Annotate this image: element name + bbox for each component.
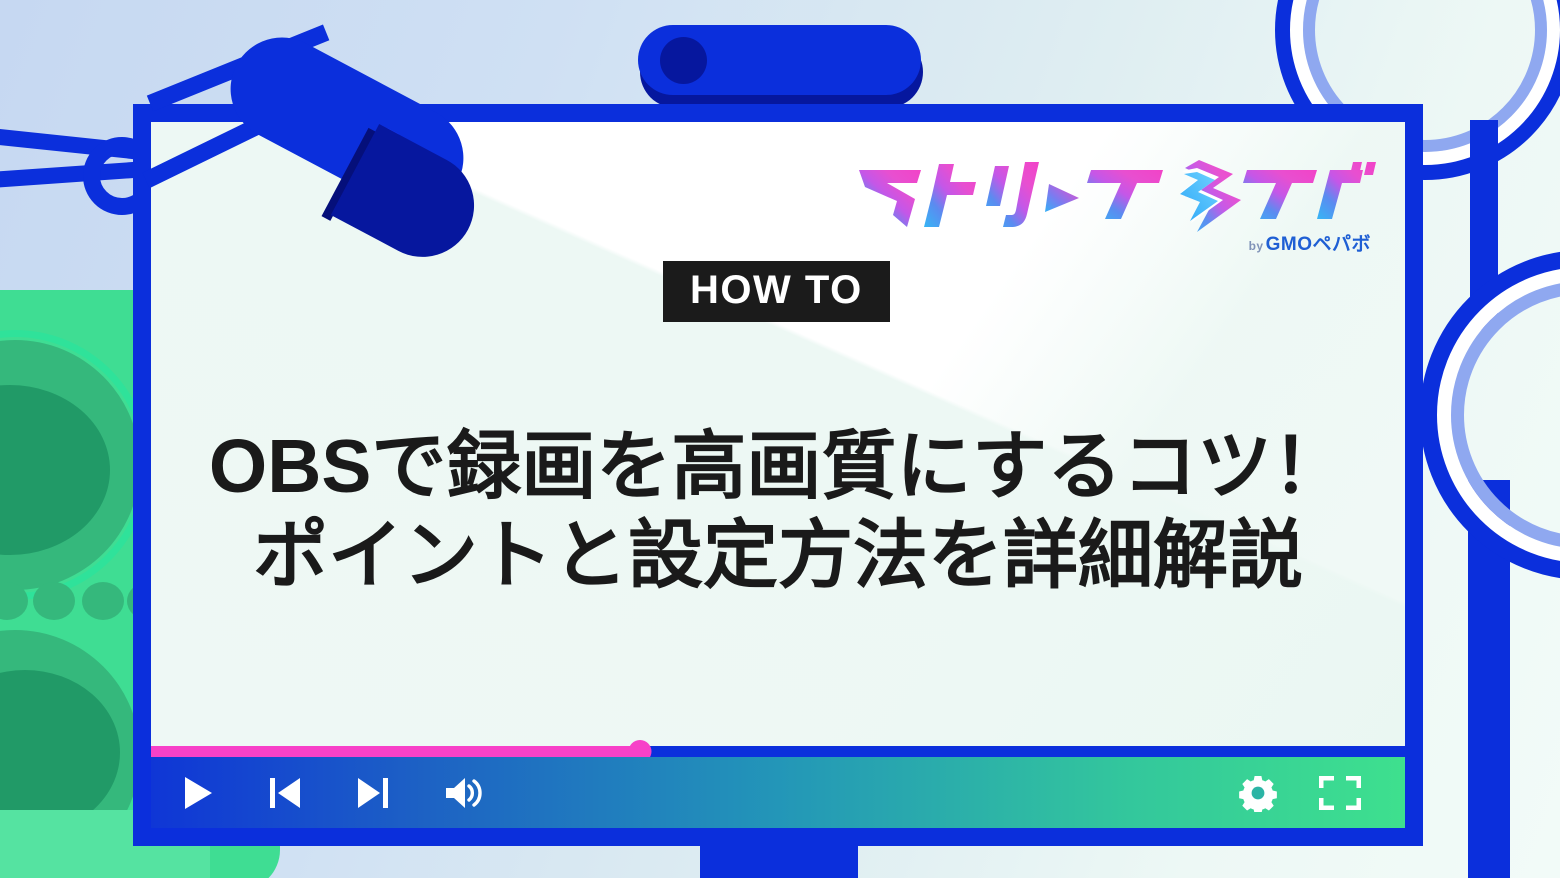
- dj-knob-icon: [82, 582, 124, 620]
- player-controls: [151, 757, 1405, 828]
- sutorima-magazine-logo-icon: [847, 158, 1377, 233]
- player-controls-left: [151, 775, 483, 811]
- logo-byline: byGMOペパボ: [847, 235, 1377, 254]
- page-title-line-2: ポイントと設定方法を詳細解説: [151, 511, 1405, 600]
- next-track-icon[interactable]: [355, 775, 391, 811]
- fullscreen-icon[interactable]: [1319, 776, 1361, 810]
- progress-bar-fill: [151, 746, 640, 757]
- dj-knob-icon: [33, 582, 75, 620]
- logo-byline-name: GMOペパボ: [1266, 234, 1371, 255]
- play-icon[interactable]: [181, 775, 215, 811]
- settings-gear-icon[interactable]: [1239, 774, 1277, 812]
- page-title: OBSで録画を高画質にするコツ！ ポイントと設定方法を詳細解説: [151, 422, 1405, 599]
- previous-track-icon[interactable]: [267, 775, 303, 811]
- progress-bar-track[interactable]: [151, 746, 1405, 757]
- site-logo[interactable]: byGMOペパボ: [847, 158, 1377, 254]
- video-player-bar: [151, 746, 1405, 828]
- webcam-lens-icon: [660, 37, 707, 84]
- logo-byline-prefix: by: [1249, 239, 1264, 253]
- how-to-badge: HOW TO: [663, 261, 890, 322]
- thumbnail-canvas: byGMOペパボ HOW TO OBSで録画を高画質にするコツ！ ポイントと設定…: [0, 0, 1560, 878]
- volume-icon[interactable]: [443, 776, 483, 810]
- card-inner: byGMOペパボ HOW TO OBSで録画を高画質にするコツ！ ポイントと設定…: [151, 122, 1405, 828]
- page-title-line-1: OBSで録画を高画質にするコツ！: [151, 422, 1405, 511]
- player-controls-right: [1239, 774, 1405, 812]
